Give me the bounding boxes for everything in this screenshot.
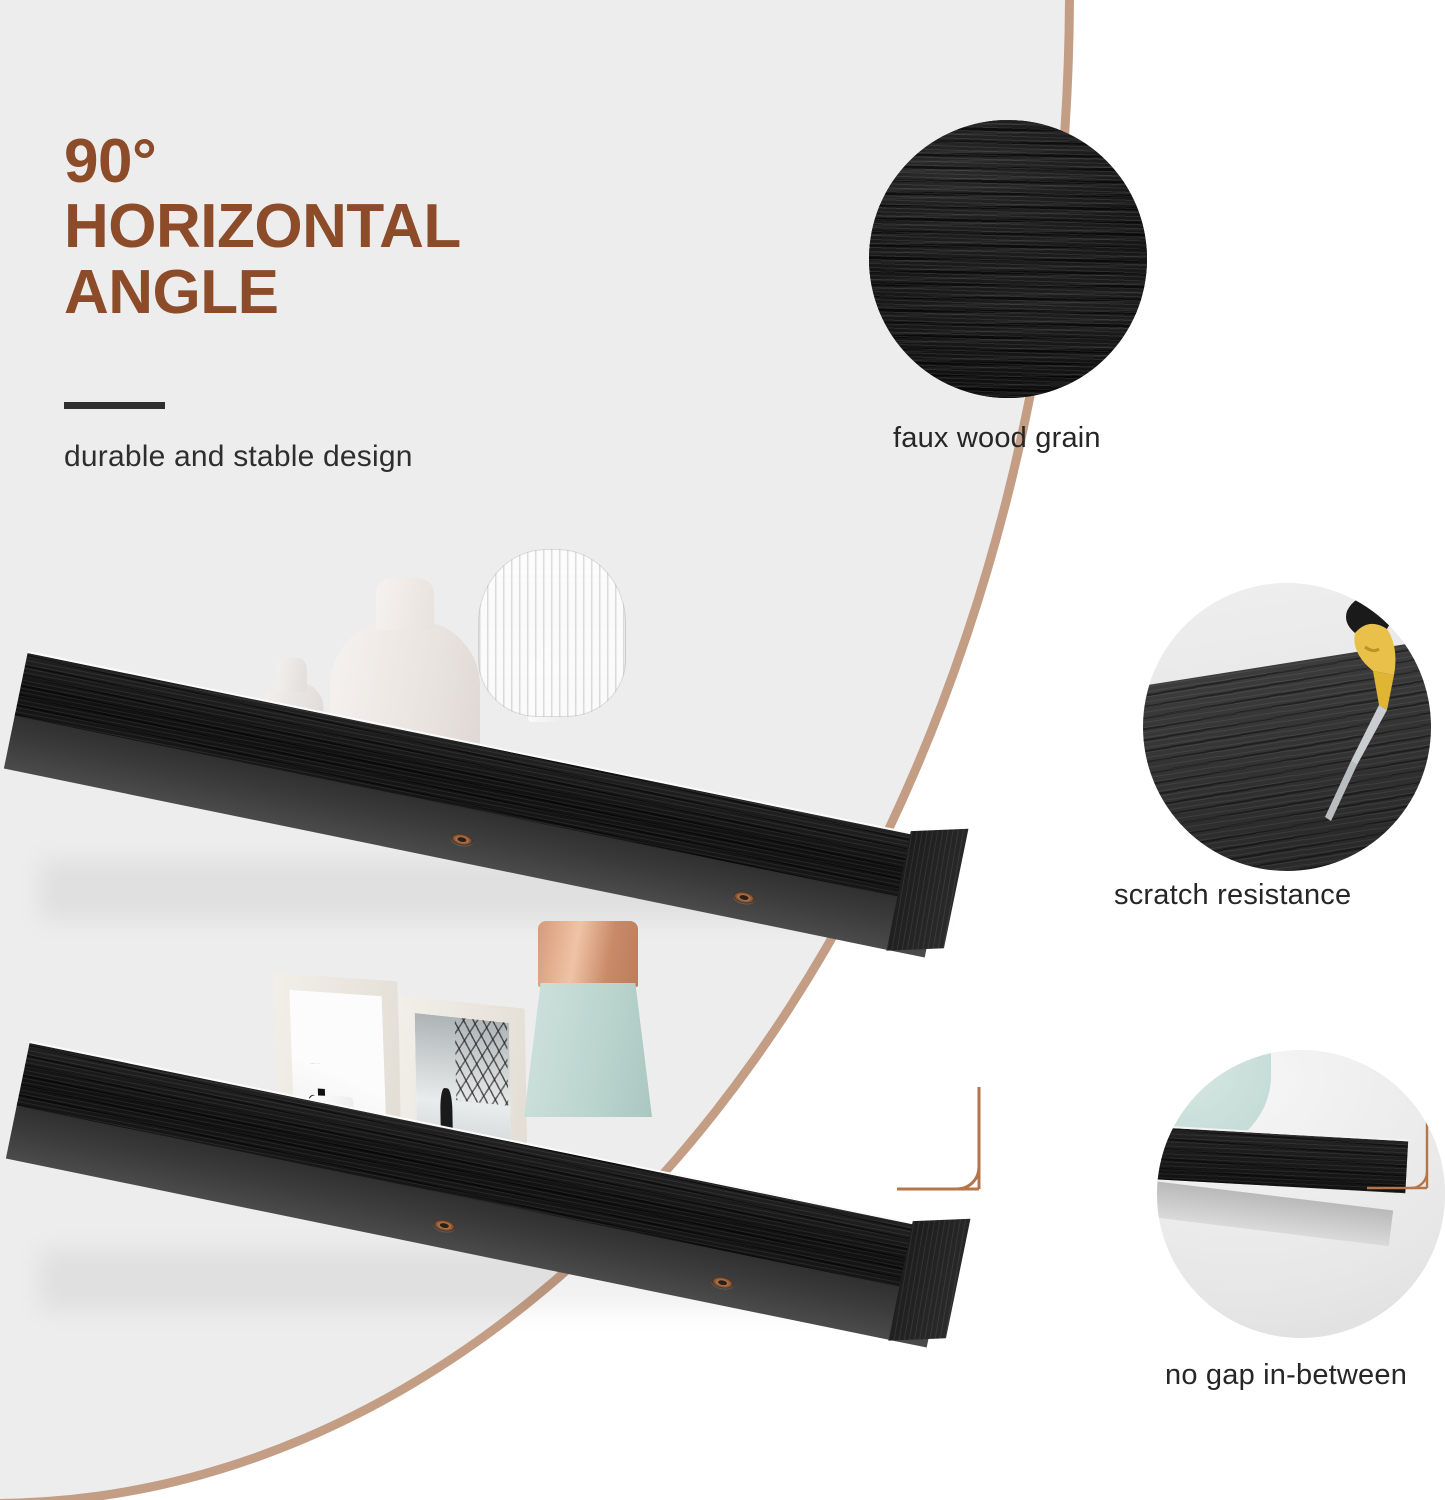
scratch-resistance-photo: [1143, 583, 1431, 871]
mint-copper-vase: [524, 921, 652, 1117]
headline-main: HORIZONTAL ANGLE: [64, 194, 684, 325]
no-gap-photo: [1157, 1050, 1445, 1338]
product-feature-image: 90° HORIZONTAL ANGLE durable and stable …: [0, 0, 1445, 1500]
headline-degree: 90°: [64, 130, 684, 194]
no-gap-caption: no gap in-between: [1165, 1359, 1407, 1392]
ribbed-glass-hurricane: [478, 549, 626, 717]
scratch-resistance-caption: scratch resistance: [1114, 879, 1351, 912]
faux-wood-grain-swatch: [869, 120, 1147, 398]
vase-copper-top: [538, 921, 638, 987]
vase-mint-body: [524, 983, 652, 1117]
headline-divider-rule: [64, 402, 165, 409]
headline-subtitle: durable and stable design: [64, 440, 413, 474]
wood-grain-texture: [869, 120, 1147, 398]
screwdriver-icon: [1295, 589, 1415, 829]
right-angle-marker-icon: [1365, 1106, 1435, 1200]
hero-right-angle-marker-icon: [893, 1085, 991, 1203]
faux-wood-grain-caption: faux wood grain: [893, 422, 1101, 455]
headline-block: 90° HORIZONTAL ANGLE: [64, 130, 684, 326]
